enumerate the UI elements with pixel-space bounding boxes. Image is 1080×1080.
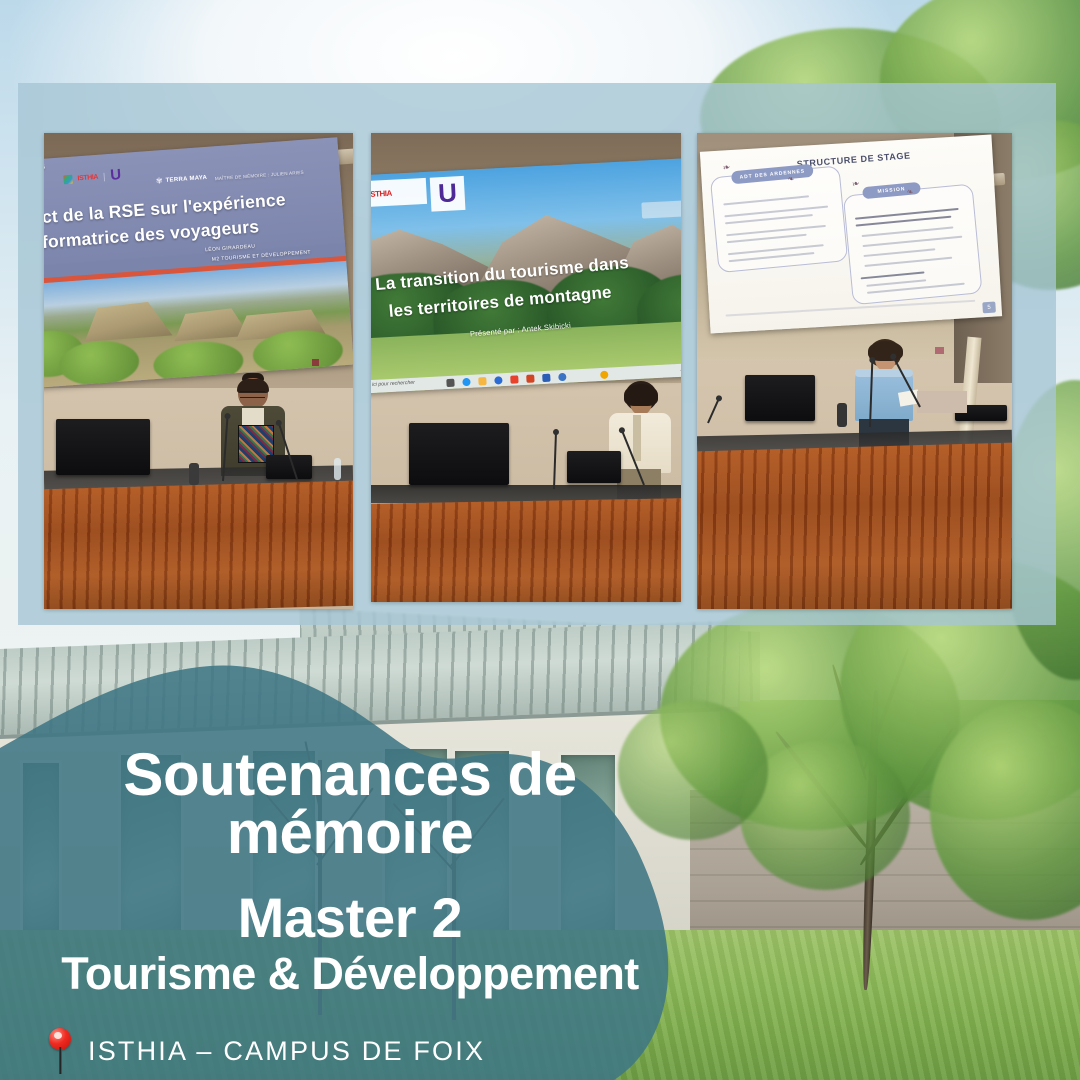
ut2j-logo-mark: U <box>110 169 122 182</box>
isthia-logo-text: ISTHIA <box>371 188 392 198</box>
terra-maya-logo-text: TERRA MAYA <box>165 174 207 183</box>
slide1-supervisor: MAÎTRE DE MÉMOIRE : JULIEN ARIES <box>215 170 304 182</box>
poster-headline: Soutenances de mémoire <box>0 746 700 861</box>
projected-slide-1: 2024-2025 ISTHIA | U ✾ TERRA MAYA MAÎTRE… <box>44 137 353 389</box>
slide3-right-card <box>843 183 983 305</box>
presenter-2-shirt-placket <box>633 415 641 461</box>
program-name: Tourisme & Développement <box>0 951 700 996</box>
taskbar-icon-notify[interactable] <box>600 370 608 378</box>
taskbar-icon-powerpoint[interactable] <box>526 374 534 382</box>
photo-presentation-3: STRUCTURE DE STAGE ADT DES ARDENNES ❧ ❧ <box>697 133 1012 609</box>
ut2j-logo-mark: U <box>438 184 458 204</box>
program-level: Master 2 <box>0 890 700 946</box>
location-label: ISTHIA – CAMPUS DE FOIX <box>88 1036 485 1067</box>
slide1-year: 2024-2025 <box>44 165 45 173</box>
projected-slide-2: ISTHIA U La transition du tourisme dans … <box>371 158 681 394</box>
taskbar-search-box[interactable]: Taper ici pour rechercher <box>371 380 415 389</box>
presenter-monitor <box>56 419 150 475</box>
wall-fixture <box>312 359 319 366</box>
water-bottle <box>837 403 847 427</box>
wall-fixture <box>935 347 944 354</box>
isthia-logo-mark <box>63 174 73 184</box>
water-bottle <box>334 458 341 480</box>
wooden-lectern-desk <box>44 480 353 609</box>
presenter-monitor <box>745 375 815 421</box>
leaf-decor-icon: ❧ <box>906 187 914 197</box>
leaf-decor-icon: ❧ <box>787 174 795 184</box>
presenter-2 <box>605 381 675 501</box>
taskbar-icon-word[interactable] <box>542 373 550 381</box>
projected-slide-3: STRUCTURE DE STAGE ADT DES ARDENNES ❧ ❧ <box>700 135 1002 334</box>
desk-paper-tray <box>917 391 967 413</box>
location-row: ISTHIA – CAMPUS DE FOIX <box>46 1028 485 1074</box>
wooden-lectern-desk <box>697 442 1012 609</box>
slide1-author: LÉON GIRARDEAU <box>205 244 256 254</box>
slide3-page-number: 5 <box>982 302 996 314</box>
presenter-1-glasses <box>240 391 265 398</box>
photo-presentation-1: 2024-2025 ISTHIA | U ✾ TERRA MAYA MAÎTRE… <box>44 133 353 609</box>
taskbar-icon-edge[interactable] <box>462 377 470 385</box>
taskbar-icon-explorer[interactable] <box>478 377 486 385</box>
wooden-lectern-desk <box>371 498 681 602</box>
photo-presentation-2: ISTHIA U La transition du tourisme dans … <box>371 133 681 602</box>
poster-canvas: 2024-2025 ISTHIA | U ✾ TERRA MAYA MAÎTRE… <box>0 0 1080 1080</box>
leaf-decor-icon: ❧ <box>722 161 732 174</box>
desk-monitor-secondary <box>567 451 621 483</box>
presenter-2-hair-front <box>624 384 658 406</box>
terra-maya-leaf-icon: ✾ <box>156 176 163 185</box>
taskbar-icon-office[interactable] <box>510 375 518 383</box>
headline-line-1: Soutenances de <box>123 741 576 808</box>
slide3-title: STRUCTURE DE STAGE <box>796 150 911 169</box>
taskbar-icon-taskview[interactable] <box>446 378 454 386</box>
slide3-left-card <box>710 165 848 273</box>
map-pin-icon <box>46 1028 74 1074</box>
water-bottle <box>189 463 199 485</box>
poster-title-block: Soutenances de mémoire Master 2 Tourisme… <box>0 636 700 1080</box>
leaf-decor-icon: ❧ <box>851 178 861 191</box>
taskbar-icon-store[interactable] <box>494 376 502 384</box>
window-controls[interactable] <box>641 200 681 218</box>
taskbar-icon-teams[interactable] <box>558 372 566 380</box>
taskbar-clock: ▲ ⌨ ⏻ <box>679 366 681 373</box>
presenter-monitor <box>409 423 509 485</box>
isthia-logo-text: ISTHIA <box>77 173 98 181</box>
headline-line-2: mémoire <box>0 804 700 862</box>
